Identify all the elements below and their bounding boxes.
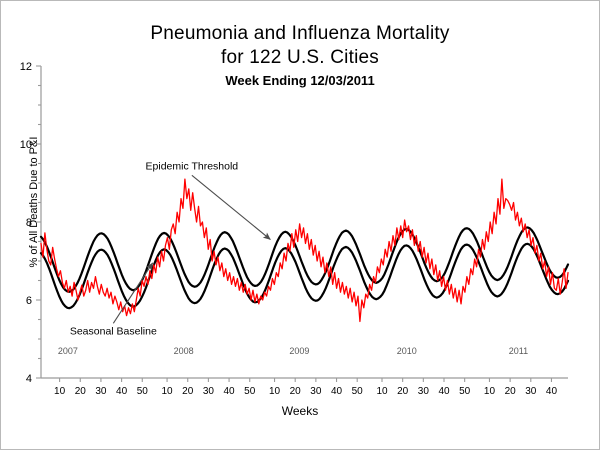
x-tick-label: 40 [224, 386, 236, 397]
year-label: 2009 [289, 346, 309, 356]
x-tick-label: 30 [525, 386, 537, 397]
series-group [41, 179, 568, 321]
y-tick-group: 4681012 [20, 61, 41, 385]
year-label: 2010 [397, 346, 417, 356]
y-tick-label: 8 [26, 217, 32, 229]
y-tick-label: 12 [20, 61, 32, 73]
x-tick-label: 50 [137, 386, 149, 397]
annotation-arrow [113, 263, 152, 323]
x-tick-label: 10 [376, 386, 388, 397]
x-tick-label: 40 [438, 386, 450, 397]
year-label: 2008 [174, 346, 194, 356]
x-tick-label: 20 [290, 386, 302, 397]
x-tick-label: 10 [54, 386, 66, 397]
x-tick-label: 10 [484, 386, 496, 397]
y-tick-label: 4 [26, 373, 32, 385]
annotation-group: Epidemic ThresholdSeasonal Baseline [70, 160, 271, 337]
x-tick-label: 40 [546, 386, 558, 397]
year-label-group: 20072008200920102011 [58, 346, 528, 356]
y-tick-label: 10 [20, 139, 32, 151]
x-tick-label: 50 [244, 386, 256, 397]
x-tick-group: 1020304050102030405010203040501020304050… [54, 378, 557, 397]
x-tick-label: 50 [459, 386, 471, 397]
series-line-seasonal-baseline [41, 244, 568, 308]
x-tick-label: 20 [75, 386, 87, 397]
x-tick-label: 30 [95, 386, 107, 397]
year-label: 2011 [509, 346, 528, 356]
x-tick-label: 30 [310, 386, 322, 397]
annotation-label: Seasonal Baseline [70, 325, 157, 337]
x-tick-label: 10 [269, 386, 281, 397]
series-line-observed-p-i-mortality [41, 179, 568, 321]
x-tick-label: 30 [418, 386, 430, 397]
x-tick-label: 20 [505, 386, 517, 397]
x-tick-label: 40 [116, 386, 128, 397]
x-tick-label: 40 [331, 386, 343, 397]
year-label: 2007 [58, 346, 78, 356]
chart-plot-area: 4681012 10203040501020304050102030405010… [0, 0, 600, 450]
x-tick-label: 10 [162, 386, 174, 397]
x-tick-label: 20 [397, 386, 409, 397]
x-tick-label: 30 [203, 386, 215, 397]
x-tick-label: 20 [182, 386, 194, 397]
x-tick-label: 50 [352, 386, 364, 397]
y-tick-label: 6 [26, 295, 32, 307]
annotation-label: Epidemic Threshold [146, 160, 239, 172]
